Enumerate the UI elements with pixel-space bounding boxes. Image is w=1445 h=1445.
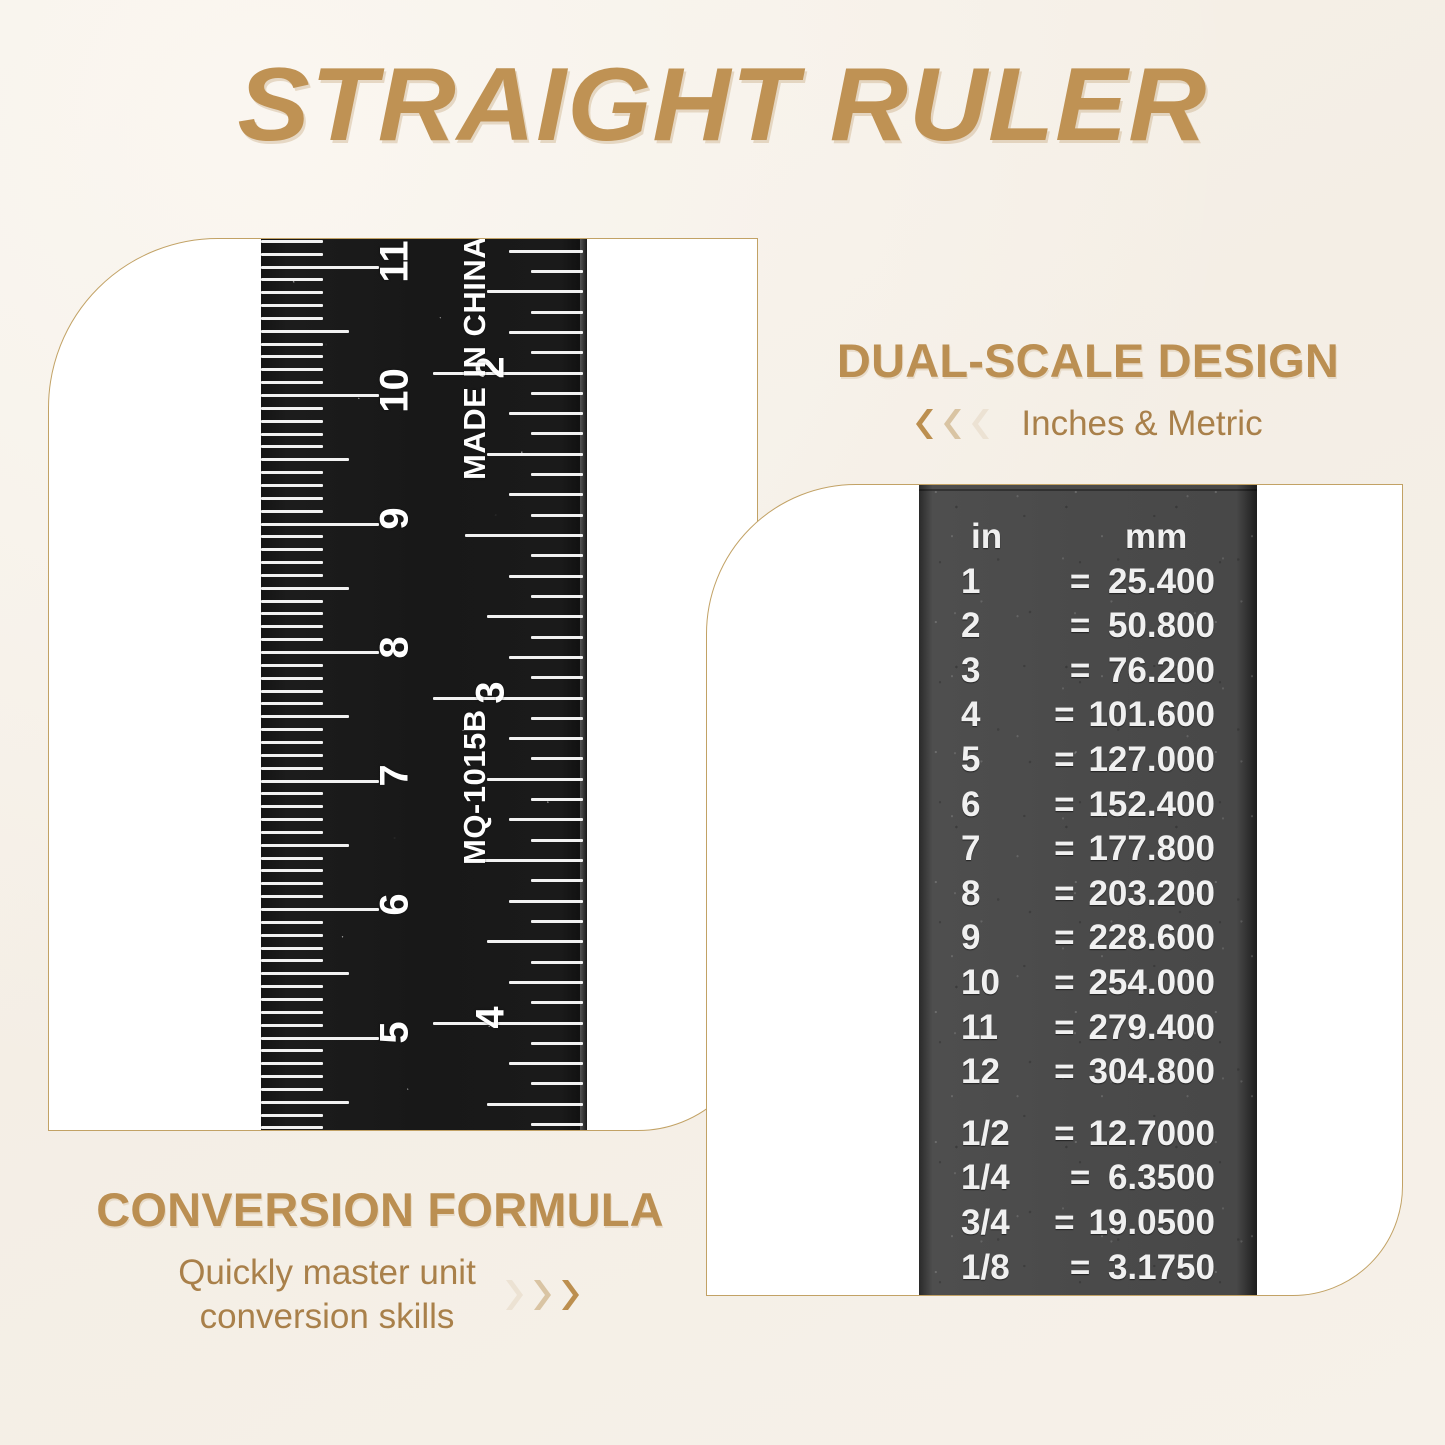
tick-minor — [487, 1103, 583, 1106]
tick-minor — [487, 940, 583, 943]
cell-inches: 4 — [961, 695, 1040, 735]
conversion-table-row: 4=101.600 — [919, 695, 1257, 740]
chevron-left-icon — [969, 407, 995, 441]
cell-inches: 2 — [961, 606, 1052, 646]
conversion-table-header: inmm — [919, 517, 1257, 562]
tick-minor — [509, 737, 583, 740]
tick-minor — [531, 392, 583, 395]
subtitle-line-1: Quickly master unit — [178, 1253, 476, 1292]
cell-millimeters: 19.0500 — [1088, 1203, 1229, 1243]
tick-minor — [531, 1123, 583, 1126]
cell-equals: = — [1040, 829, 1088, 869]
conversion-table-row: 1/4=6.3500 — [919, 1158, 1257, 1203]
tick-medium — [261, 715, 349, 718]
tick-major — [261, 1037, 379, 1040]
tick-minor — [509, 818, 583, 821]
cell-millimeters: 228.600 — [1088, 918, 1229, 958]
tick-minor — [531, 961, 583, 964]
tick-minor — [261, 381, 323, 384]
cell-equals: = — [1040, 695, 1088, 735]
tick-minor — [261, 1062, 323, 1065]
metric-number: 8 — [373, 617, 418, 677]
cell-inches: 3 — [961, 651, 1052, 691]
cell-millimeters: 203.200 — [1088, 874, 1229, 914]
cell-millimeters: 152.400 — [1088, 785, 1229, 825]
tick-minor — [261, 959, 323, 962]
cell-equals: = — [1040, 918, 1088, 958]
cell-inches: 11 — [961, 1008, 1040, 1048]
tick-minor — [531, 351, 583, 354]
tick-minor — [261, 574, 323, 577]
conversion-table-row: 3=76.200 — [919, 651, 1257, 696]
tick-medium — [261, 458, 349, 461]
tick-minor — [261, 420, 323, 423]
cell-inches: 8 — [961, 874, 1040, 914]
tick-minor — [531, 473, 583, 476]
feature-dual-scale-subtitle: Inches & Metric — [1021, 404, 1262, 444]
tick-medium — [261, 972, 349, 975]
tick-minor — [261, 343, 323, 346]
tick-minor — [261, 1075, 323, 1078]
conversion-table-card: inmm1=25.4002=50.8003=76.2004=101.6005=1… — [706, 484, 1403, 1296]
tick-minor — [261, 625, 323, 628]
cell-inches: 1/2 — [961, 1114, 1040, 1154]
tick-minor — [261, 1088, 323, 1091]
tick-minor — [261, 934, 323, 937]
cell-inches: 10 — [961, 963, 1040, 1003]
conversion-table-row: 12=304.800 — [919, 1052, 1257, 1097]
tick-minor — [509, 656, 583, 659]
tick-minor — [261, 921, 323, 924]
chevron-right-icon — [528, 1278, 554, 1312]
tick-minor — [261, 317, 323, 320]
tick-minor — [261, 445, 323, 448]
tick-minor — [261, 510, 323, 513]
metric-number: 7 — [373, 746, 418, 806]
tick-minor — [509, 575, 583, 578]
tick-minor — [261, 818, 323, 821]
tick-minor — [261, 1049, 323, 1052]
cell-millimeters: 6.3500 — [1108, 1158, 1229, 1198]
tick-medium — [465, 534, 583, 537]
inch-number: 4 — [469, 988, 514, 1048]
tick-minor — [261, 1114, 323, 1117]
tick-minor — [261, 433, 323, 436]
tick-minor — [531, 879, 583, 882]
cell-equals: = — [1040, 1114, 1088, 1154]
metric-number: 9 — [373, 489, 418, 549]
cell-millimeters: 25.400 — [1108, 562, 1229, 602]
tick-major — [261, 780, 379, 783]
tick-minor — [509, 412, 583, 415]
metric-number: 10 — [373, 360, 418, 420]
tick-minor — [261, 754, 323, 757]
feature-dual-scale: DUAL-SCALE DESIGN Inches & Metric — [798, 333, 1378, 444]
cell-equals: = — [1052, 1158, 1108, 1198]
black-ruler-body: 111098765 234 MADE IN CHINA MQ-1015B — [261, 238, 587, 1131]
tick-minor — [261, 612, 323, 615]
cell-equals: = — [1040, 1008, 1088, 1048]
tick-minor — [261, 355, 323, 358]
cell-millimeters: 304.800 — [1088, 1052, 1229, 1092]
tick-minor — [261, 831, 323, 834]
tick-minor — [509, 331, 583, 334]
tick-minor — [261, 561, 323, 564]
subtitle-line-2: conversion skills — [200, 1297, 455, 1336]
tick-minor — [261, 1011, 323, 1014]
ruler-edge-line — [919, 489, 1257, 491]
tick-minor — [531, 839, 583, 842]
cell-millimeters: 177.800 — [1088, 829, 1229, 869]
conversion-table-row: 1=25.400 — [919, 562, 1257, 607]
tick-major — [261, 523, 379, 526]
tick-medium — [261, 330, 349, 333]
tick-minor — [261, 702, 323, 705]
cell-equals: = — [1040, 740, 1088, 780]
cell-inches: 12 — [961, 1052, 1040, 1092]
tick-minor — [487, 290, 583, 293]
column-header-in: in — [961, 517, 1063, 557]
tick-minor — [509, 1062, 583, 1065]
tick-minor — [261, 497, 323, 500]
cell-millimeters: 3.1750 — [1108, 1248, 1229, 1288]
tick-minor — [531, 676, 583, 679]
chevrons-left-group — [913, 407, 995, 441]
conversion-table-row: 10=254.000 — [919, 963, 1257, 1008]
chevron-left-icon — [913, 407, 939, 441]
conversion-table-row: 2=50.800 — [919, 606, 1257, 651]
cell-inches: 9 — [961, 918, 1040, 958]
cell-equals: = — [1052, 1248, 1108, 1288]
tick-minor — [261, 407, 323, 410]
tick-major — [261, 266, 379, 269]
tick-minor — [531, 270, 583, 273]
tick-minor — [531, 717, 583, 720]
feature-conversion-formula-title: CONVERSION FORMULA — [40, 1182, 720, 1237]
tick-minor — [261, 998, 323, 1001]
tick-minor — [261, 368, 323, 371]
cell-inches: 1/4 — [961, 1158, 1052, 1198]
cell-millimeters: 254.000 — [1088, 963, 1229, 1003]
tick-major — [261, 651, 379, 654]
tick-minor — [531, 595, 583, 598]
tick-minor — [261, 253, 323, 256]
cell-millimeters: 50.800 — [1108, 606, 1229, 646]
tick-minor — [261, 664, 323, 667]
feature-conversion-formula-subtitle: Quickly master unit conversion skills — [178, 1251, 476, 1339]
tick-minor — [509, 981, 583, 984]
cell-millimeters: 76.200 — [1108, 651, 1229, 691]
conversion-table-row: 1/8=3.1750 — [919, 1248, 1257, 1293]
conversion-table-row: 9=228.600 — [919, 918, 1257, 963]
chevron-right-icon — [556, 1278, 582, 1312]
tick-minor — [261, 792, 323, 795]
tick-minor — [531, 798, 583, 801]
cell-equals: = — [1040, 1052, 1088, 1092]
tick-minor — [487, 778, 583, 781]
tick-minor — [261, 895, 323, 898]
tick-minor — [531, 1001, 583, 1004]
tick-minor — [531, 432, 583, 435]
cell-millimeters: 127.000 — [1088, 740, 1229, 780]
cell-equals: = — [1040, 874, 1088, 914]
tick-minor — [261, 278, 323, 281]
cell-inches: 1/8 — [961, 1248, 1052, 1288]
tick-minor — [531, 311, 583, 314]
tick-minor — [261, 471, 323, 474]
tick-minor — [261, 484, 323, 487]
model-number-label: MQ-1015B — [457, 709, 493, 865]
cell-millimeters: 101.600 — [1088, 695, 1229, 735]
tick-minor — [261, 741, 323, 744]
conversion-table-row: 5=127.000 — [919, 740, 1257, 785]
conversion-table-row: 8=203.200 — [919, 874, 1257, 919]
tick-minor — [509, 250, 583, 253]
cell-inches: 5 — [961, 740, 1040, 780]
cell-equals: = — [1052, 562, 1108, 602]
cell-millimeters: 12.7000 — [1088, 1114, 1229, 1154]
cell-millimeters: 279.400 — [1088, 1008, 1229, 1048]
tick-minor — [261, 535, 323, 538]
conversion-table: inmm1=25.4002=50.8003=76.2004=101.6005=1… — [919, 517, 1257, 1292]
tick-minor — [531, 554, 583, 557]
cell-inches: 6 — [961, 785, 1040, 825]
gray-ruler-body: inmm1=25.4002=50.8003=76.2004=101.6005=1… — [919, 484, 1257, 1296]
conversion-table-row: 6=152.400 — [919, 785, 1257, 830]
chevron-left-icon — [941, 407, 967, 441]
tick-medium — [261, 1101, 349, 1104]
chevron-right-icon — [500, 1278, 526, 1312]
feature-conversion-formula: CONVERSION FORMULA Quickly master unit c… — [40, 1182, 720, 1339]
tick-major — [261, 908, 379, 911]
conversion-table-row: 3/4=19.0500 — [919, 1203, 1257, 1248]
tick-minor — [261, 805, 323, 808]
tick-minor — [261, 857, 323, 860]
tick-medium — [261, 844, 349, 847]
conversion-table-row: 11=279.400 — [919, 1008, 1257, 1053]
tick-minor — [531, 636, 583, 639]
cell-equals: = — [1040, 963, 1088, 1003]
feature-dual-scale-title: DUAL-SCALE DESIGN — [798, 333, 1378, 388]
tick-minor — [261, 728, 323, 731]
metric-number: 6 — [373, 874, 418, 934]
column-header-mm: mm — [1119, 517, 1229, 557]
tick-minor — [531, 920, 583, 923]
cell-equals: = — [1052, 651, 1108, 691]
cell-equals: = — [1040, 785, 1088, 825]
tick-minor — [261, 240, 323, 243]
tick-minor — [261, 985, 323, 988]
made-in-china-label: MADE IN CHINA — [457, 238, 493, 480]
cell-inches: 3/4 — [961, 1203, 1040, 1243]
tick-minor — [261, 1126, 323, 1129]
cell-equals: = — [1040, 1203, 1088, 1243]
tick-minor — [261, 600, 323, 603]
conversion-table-row: 1/2=12.7000 — [919, 1114, 1257, 1159]
metric-number: 5 — [373, 1003, 418, 1063]
tick-minor — [261, 548, 323, 551]
cell-equals: = — [1052, 606, 1108, 646]
tick-minor — [261, 882, 323, 885]
tick-minor — [531, 1082, 583, 1085]
tick-minor — [261, 690, 323, 693]
tick-medium — [261, 587, 349, 590]
ruler-photo-card: 111098765 234 MADE IN CHINA MQ-1015B — [48, 238, 758, 1131]
tick-minor — [261, 1024, 323, 1027]
tick-minor — [531, 1042, 583, 1045]
tick-minor — [261, 869, 323, 872]
chevrons-right-group — [500, 1278, 582, 1312]
tick-minor — [261, 767, 323, 770]
tick-minor — [261, 677, 323, 680]
tick-minor — [261, 304, 323, 307]
tick-minor — [261, 638, 323, 641]
conversion-table-row: 7=177.800 — [919, 829, 1257, 874]
tick-minor — [509, 900, 583, 903]
cell-inches: 1 — [961, 562, 1052, 602]
cell-inches: 7 — [961, 829, 1040, 869]
page-title: STRAIGHT RULER — [0, 46, 1445, 165]
tick-minor — [487, 453, 583, 456]
metric-number: 11 — [373, 238, 418, 292]
tick-minor — [261, 291, 323, 294]
tick-minor — [261, 947, 323, 950]
tick-minor — [531, 757, 583, 760]
tick-minor — [487, 615, 583, 618]
tick-minor — [509, 493, 583, 496]
tick-minor — [531, 514, 583, 517]
tick-major — [261, 394, 379, 397]
